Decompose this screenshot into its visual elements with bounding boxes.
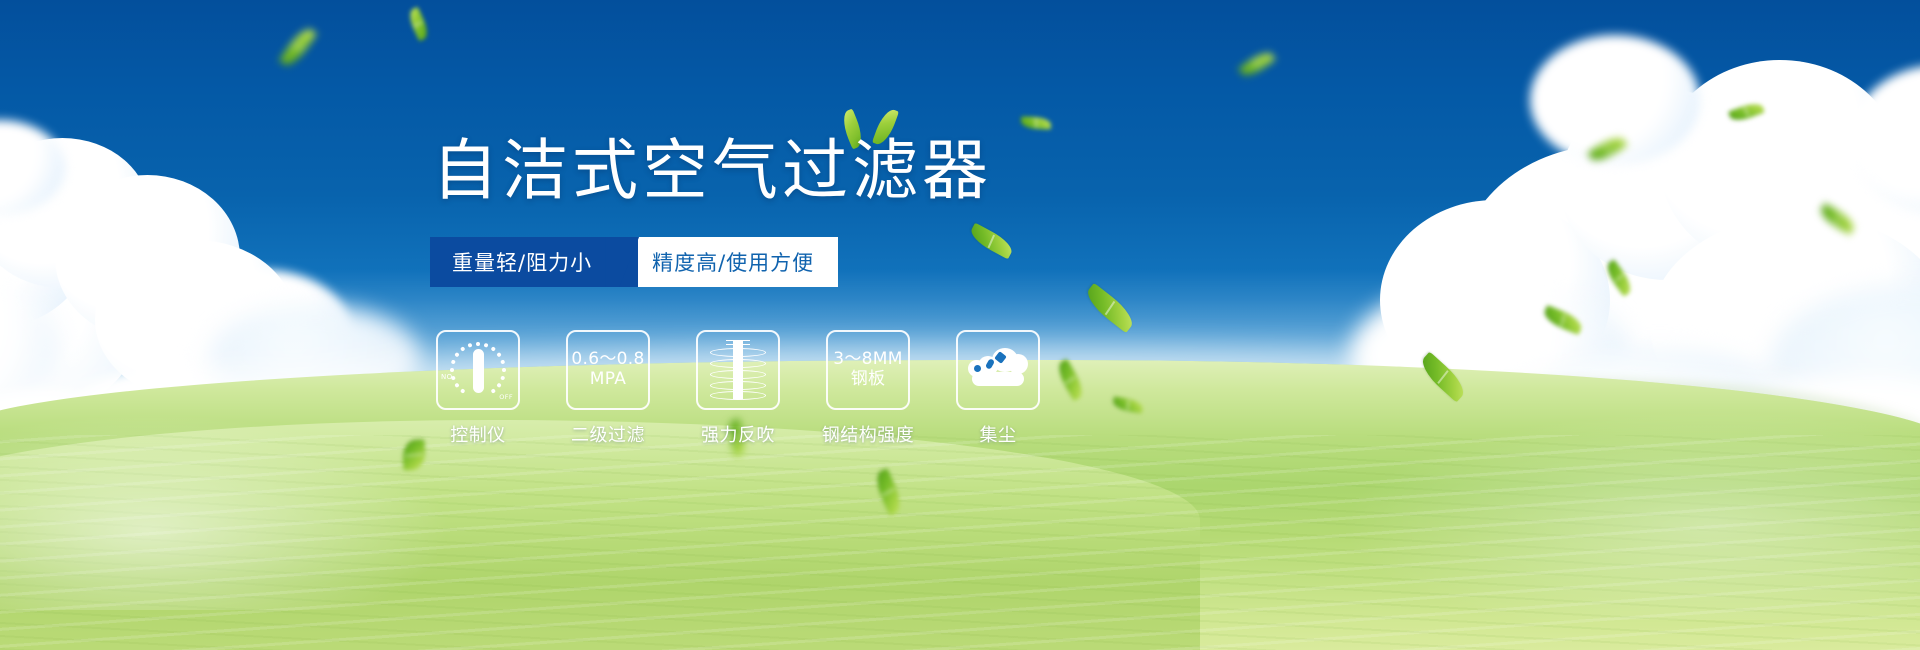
feature-label: 强力反吹 xyxy=(701,421,775,447)
feature-icon-box: Air xyxy=(956,330,1040,410)
gauge-label-no: NO xyxy=(441,373,453,381)
feature-text-line2: MPA xyxy=(571,370,644,390)
tab-label: 重量轻/阻力小 xyxy=(452,247,592,277)
feature-text-line1: 0.6～0.8 xyxy=(571,350,644,370)
hero-banner: 自洁式空气过滤器 重量轻/阻力小 精度高/使用方便 xyxy=(0,0,1920,650)
feature-icon-box: 3～8MM 钢板 xyxy=(826,330,910,410)
tab-slant-divider xyxy=(605,237,639,287)
feature-item-steel-strength[interactable]: 3～8MM 钢板 钢结构强度 xyxy=(818,330,918,447)
gauge-needle xyxy=(473,349,484,393)
tab-weight-resistance[interactable]: 重量轻/阻力小 xyxy=(430,237,638,287)
feature-item-strong-blowback[interactable]: 强力反吹 xyxy=(688,330,788,447)
feature-icon-box xyxy=(696,330,780,410)
gauge-label-off: OFF xyxy=(499,393,513,401)
feature-label: 控制仪 xyxy=(450,421,506,447)
feature-tabs: 重量轻/阻力小 精度高/使用方便 xyxy=(430,237,838,287)
banner-content: 自洁式空气过滤器 重量轻/阻力小 精度高/使用方便 xyxy=(0,0,1920,650)
coil-filter-icon xyxy=(710,339,766,401)
feature-icon-box: 0.6～0.8 MPA xyxy=(566,330,650,410)
page-title: 自洁式空气过滤器 xyxy=(432,138,992,204)
feature-list: NO OFF 控制仪 0.6～0.8 MPA 二级过滤 xyxy=(428,330,1048,447)
gauge-icon: NO OFF xyxy=(441,335,515,405)
tab-label: 精度高/使用方便 xyxy=(652,247,814,277)
feature-item-controller[interactable]: NO OFF 控制仪 xyxy=(428,330,528,447)
cloud-air-icon: Air xyxy=(966,346,1030,392)
feature-item-two-stage-filter[interactable]: 0.6～0.8 MPA 二级过滤 xyxy=(558,330,658,447)
feature-text-line2: 钢板 xyxy=(833,370,902,390)
air-label: Air xyxy=(966,373,1030,388)
feature-text-line1: 3～8MM xyxy=(833,350,902,370)
feature-item-dust-collection[interactable]: Air 集尘 xyxy=(948,330,1048,447)
feature-label: 集尘 xyxy=(980,421,1017,447)
feature-icon-box: NO OFF xyxy=(436,330,520,410)
feature-label: 二级过滤 xyxy=(571,421,645,447)
feature-label: 钢结构强度 xyxy=(822,421,915,447)
tab-precision-convenience[interactable]: 精度高/使用方便 xyxy=(608,237,838,287)
